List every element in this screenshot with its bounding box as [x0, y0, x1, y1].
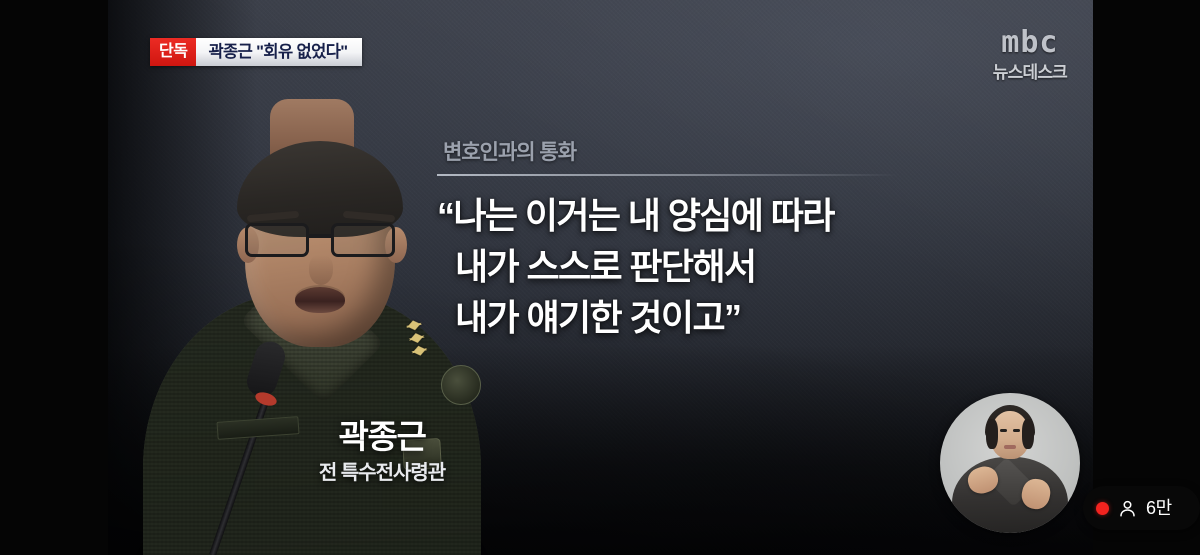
- letterbox-bar-right: [1093, 0, 1200, 555]
- network-logo: mbc 뉴스데스크: [993, 28, 1067, 81]
- rank-star: [411, 344, 428, 353]
- interpreter-hair-side: [1022, 419, 1034, 449]
- viewer-count-label: 6만: [1146, 499, 1172, 517]
- video-player[interactable]: 단독 곽종근 "회유 없었다" mbc 뉴스데스크 변호인과의 통화 “나는 이…: [0, 0, 1200, 555]
- eyeglasses-bridge: [309, 234, 331, 238]
- broadcast-stage: 단독 곽종근 "회유 없었다" mbc 뉴스데스크 변호인과의 통화 “나는 이…: [107, 0, 1093, 555]
- live-viewer-badge[interactable]: 6만: [1083, 486, 1200, 530]
- quote-line: 내가 스스로 판단해서: [437, 241, 957, 292]
- breaking-news-flag: 단독: [150, 38, 196, 66]
- breaking-news-headline: 곽종근 "회유 없었다": [196, 38, 361, 66]
- quote-source-label: 변호인과의 통화: [437, 142, 957, 163]
- mbc-wordmark: mbc: [993, 28, 1067, 58]
- speaker-name: 곽종근: [252, 420, 512, 453]
- quote-line: “나는 이거는 내 양심에 따라: [437, 190, 957, 241]
- quote-divider: [437, 174, 897, 176]
- speaker-role: 전 특수전사령관: [252, 463, 512, 483]
- quote-text: “나는 이거는 내 양심에 따라 내가 스스로 판단해서 내가 얘기한 것이고”: [437, 190, 957, 343]
- subject-nose: [309, 255, 333, 285]
- lower-third-caption: 곽종근 전 특수전사령관: [252, 420, 512, 483]
- eyeglasses-icon: [241, 223, 399, 257]
- interviewee-photo: [137, 135, 487, 555]
- letterbox-bar-left: [0, 0, 108, 555]
- subject-mouth: [295, 287, 345, 313]
- interpreter-hair-side: [986, 419, 998, 449]
- interpreter-eye: [1000, 429, 1007, 432]
- person-icon: [1118, 499, 1137, 518]
- rank-star: [408, 331, 425, 340]
- interpreter-eye: [1013, 429, 1020, 432]
- interpreter-body: [952, 457, 1068, 533]
- eyeglasses-lens-left: [245, 223, 309, 257]
- live-indicator-icon: [1096, 502, 1109, 515]
- interpreter-mouth: [1004, 445, 1016, 449]
- sign-language-interpreter-pip: [940, 393, 1080, 533]
- program-title: 뉴스데스크: [993, 64, 1067, 81]
- quote-graphic: 변호인과의 통화 “나는 이거는 내 양심에 따라 내가 스스로 판단해서 내가…: [437, 142, 957, 343]
- uniform-shoulder-patch: [441, 365, 481, 405]
- quote-line: 내가 얘기한 것이고”: [437, 292, 957, 343]
- breaking-news-banner: 단독 곽종근 "회유 없었다": [150, 38, 362, 66]
- eyeglasses-lens-right: [331, 223, 395, 257]
